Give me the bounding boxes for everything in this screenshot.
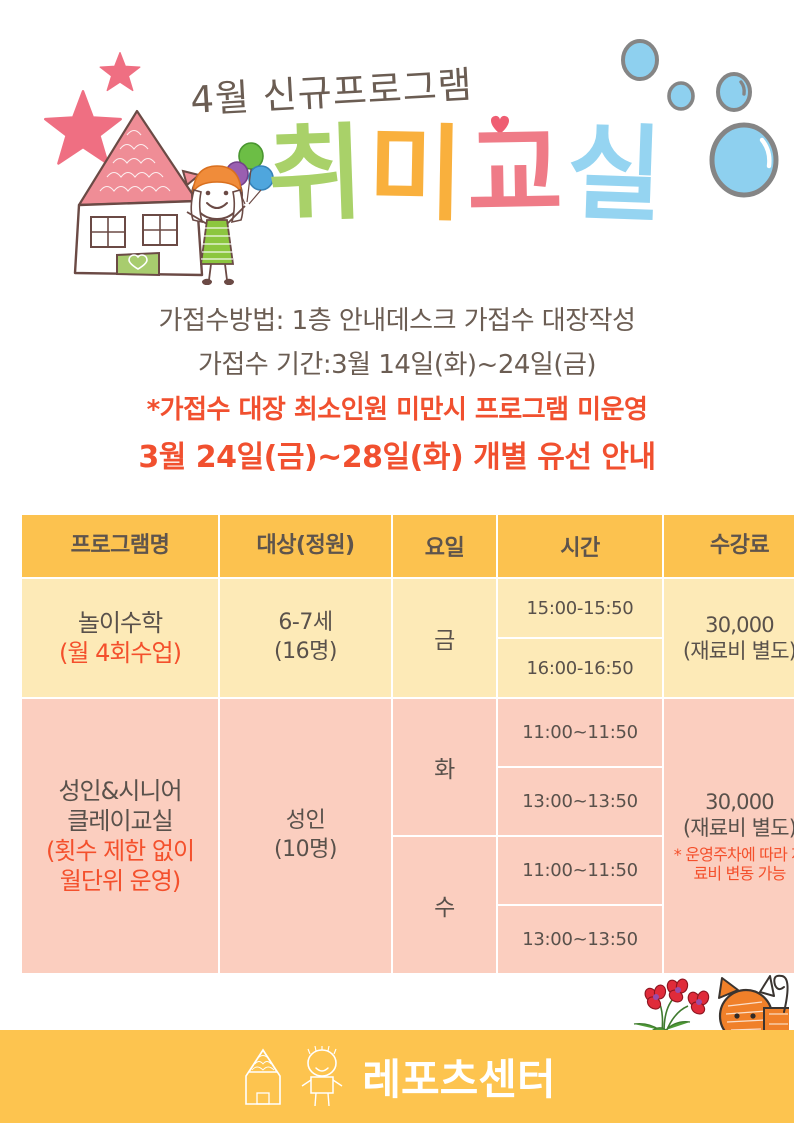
cell-day: 금 — [392, 578, 497, 698]
person-outline-icon — [300, 1046, 344, 1108]
cell-day: 수 — [392, 836, 497, 974]
column-header-fee: 수강료 — [663, 514, 794, 578]
bubble-icon — [619, 37, 661, 88]
footer-brand: 레포츠센터 — [362, 1046, 555, 1107]
cell-time: 13:00~13:50 — [497, 767, 663, 836]
flowers-icon — [634, 978, 710, 1034]
bubble-icon — [665, 79, 697, 118]
table-header-row: 프로그램명 대상(정원) 요일 시간 수강료 — [21, 514, 794, 578]
page-title: 취미교실 — [268, 122, 667, 226]
program-note-2: 월단위 운영) — [25, 866, 215, 896]
cell-time: 11:00~11:50 — [497, 698, 663, 767]
cell-time: 16:00-16:50 — [497, 638, 663, 698]
cell-time: 13:00~13:50 — [497, 905, 663, 974]
notice-line-3: *가접수 대장 최소인원 미만시 프로그램 미운영 — [0, 389, 794, 426]
column-header-program: 프로그램명 — [21, 514, 219, 578]
house-outline-icon — [238, 1046, 288, 1108]
cell-target: 6-7세 (16명) — [219, 578, 392, 698]
notice-line-4: 3월 24일(금)~28일(화) 개별 유선 안내 — [0, 432, 794, 476]
target-capacity: (16명) — [223, 638, 388, 667]
program-name: 놀이수학 — [25, 608, 215, 638]
title-char-1: 취 — [266, 120, 369, 227]
program-note: (월 4회수업) — [25, 638, 215, 668]
notice-line-2: 가접수 기간:3월 14일(화)~24일(금) — [0, 344, 794, 381]
fee-amount: 30,000 — [667, 789, 794, 815]
fee-sub: (재료비 별도) — [667, 815, 794, 841]
bubble-icon — [704, 118, 784, 207]
cell-fee: 30,000 (재료비 별도) * 운영주차에 따라 재료비 변동 가능 — [663, 698, 794, 974]
cell-time: 11:00~11:50 — [497, 836, 663, 905]
table-row: 성인&시니어 클레이교실 (횟수 제한 없이 월단위 운영) 성인 (10명) … — [21, 698, 794, 767]
program-name: 성인&시니어 — [25, 776, 215, 806]
cell-time: 15:00-15:50 — [497, 578, 663, 638]
column-header-day: 요일 — [392, 514, 497, 578]
column-header-target: 대상(정원) — [219, 514, 392, 578]
program-name-2: 클레이교실 — [25, 806, 215, 836]
cell-target: 성인 (10명) — [219, 698, 392, 974]
notice-block: 가접수방법: 1층 안내데스크 가접수 대장작성 가접수 기간:3월 14일(화… — [0, 300, 794, 476]
title-char-4: 실 — [565, 120, 668, 227]
poster-root: 4월 신규프로그램 취미교실 — [0, 0, 794, 1123]
target-age: 6-7세 — [223, 609, 388, 638]
footer-logo-group: 레포츠센터 — [0, 1030, 794, 1123]
bubble-icon — [713, 70, 755, 119]
table-row: 놀이수학 (월 4회수업) 6-7세 (16명) 금 15:00-15:50 3… — [21, 578, 794, 638]
poster-header: 4월 신규프로그램 취미교실 — [0, 0, 794, 290]
target-capacity: (10명) — [223, 836, 388, 865]
program-note: (횟수 제한 없이 — [25, 836, 215, 866]
title-char-2: 미 — [367, 121, 468, 227]
cell-fee: 30,000 (재료비 별도) — [663, 578, 794, 698]
footer-band: 레포츠센터 — [0, 1030, 794, 1123]
notice-line-1: 가접수방법: 1층 안내데스크 가접수 대장작성 — [0, 300, 794, 337]
cell-program-name: 놀이수학 (월 4회수업) — [21, 578, 219, 698]
title-char-3: 교 — [466, 121, 567, 227]
target-age: 성인 — [223, 807, 388, 836]
star-icon — [98, 50, 142, 94]
fee-note: * 운영주차에 따라 재료비 변동 가능 — [667, 845, 794, 883]
cell-day: 화 — [392, 698, 497, 836]
fee-amount: 30,000 — [667, 612, 794, 638]
fee-sub: (재료비 별도) — [667, 638, 794, 664]
schedule-table-wrapper: 프로그램명 대상(정원) 요일 시간 수강료 놀이수학 (월 4회수업) 6-7… — [20, 513, 775, 975]
schedule-table: 프로그램명 대상(정원) 요일 시간 수강료 놀이수학 (월 4회수업) 6-7… — [20, 513, 794, 975]
cell-program-name: 성인&시니어 클레이교실 (횟수 제한 없이 월단위 운영) — [21, 698, 219, 974]
column-header-time: 시간 — [497, 514, 663, 578]
